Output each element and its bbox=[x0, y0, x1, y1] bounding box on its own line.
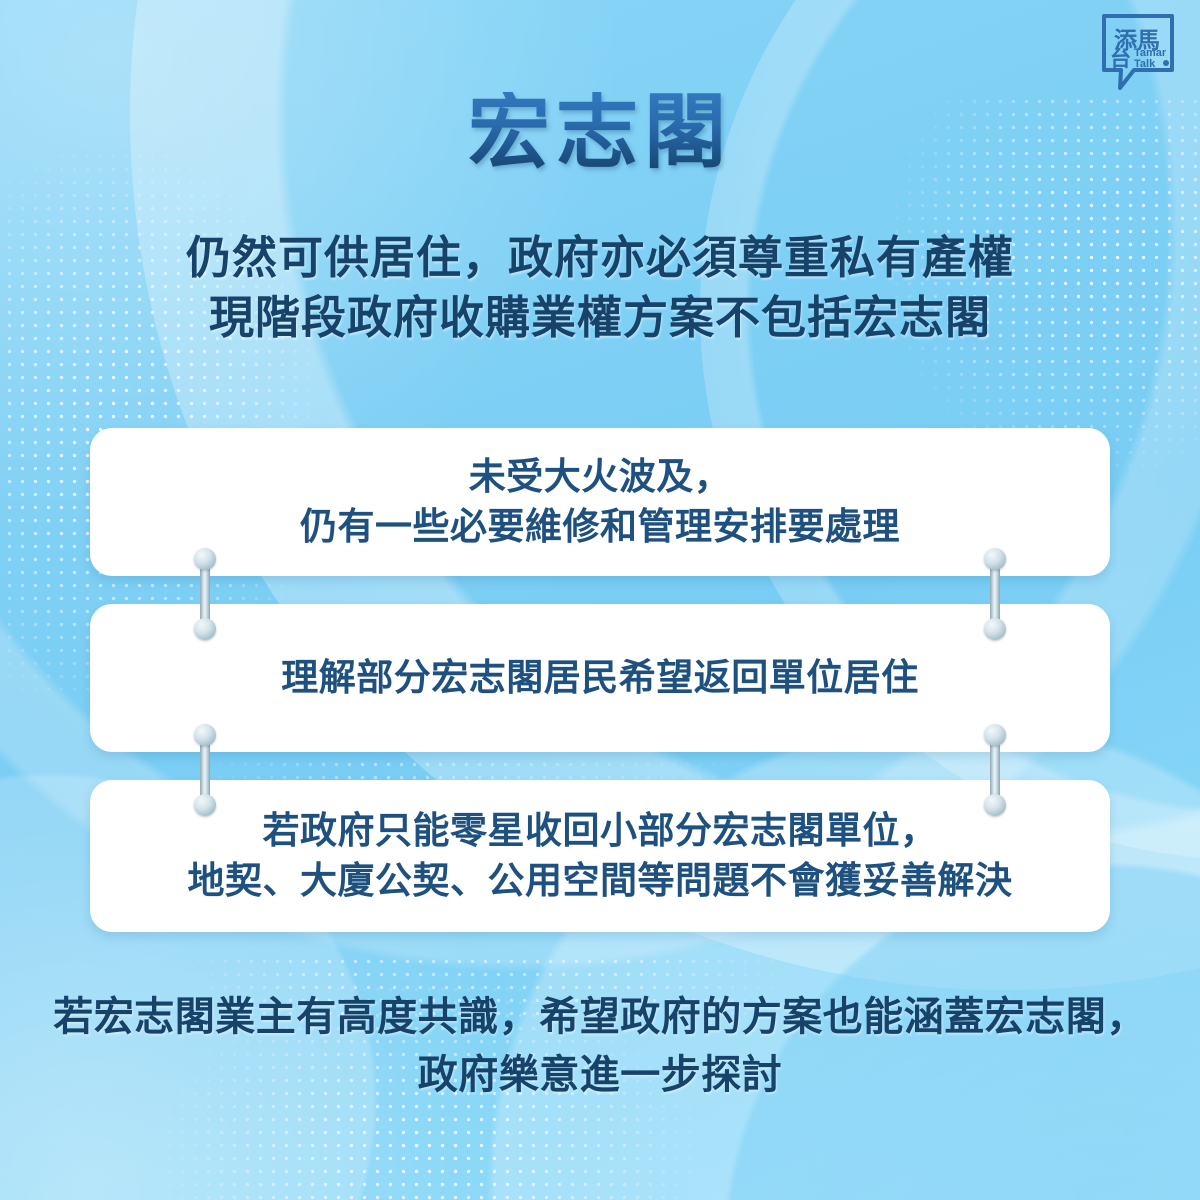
tamar-talk-logo: 添馬 台 Tamar Talk bbox=[1090, 8, 1182, 100]
info-card-1: 未受大火波及， 仍有一些必要維修和管理安排要處理 bbox=[90, 428, 1110, 576]
connector-cap-top bbox=[984, 724, 1006, 746]
footer-line-2: 政府樂意進一步探討 bbox=[0, 1046, 1200, 1104]
footer-block: 若宏志閣業主有高度共識，希望政府的方案也能涵蓋宏志閣， 政府樂意進一步探討 bbox=[0, 988, 1200, 1104]
page-title: 宏志閣 bbox=[0, 92, 1200, 174]
connector-cap-top bbox=[194, 724, 216, 746]
svg-text:台: 台 bbox=[1110, 47, 1131, 71]
connector-cap-bottom bbox=[984, 794, 1006, 816]
connector-pin-left-2 bbox=[194, 724, 216, 816]
connector-cap-bottom bbox=[194, 794, 216, 816]
subtitle-block: 仍然可供居住，政府亦必須尊重私有產權 現階段政府收購業權方案不包括宏志閣 bbox=[0, 228, 1200, 348]
infographic-poster: 添馬 台 Tamar Talk 宏志閣 仍然可供居住，政府亦必須尊重私有產權 現… bbox=[0, 0, 1200, 1200]
info-card-3: 若政府只能零星收回小部分宏志閣單位， 地契、大廈公契、公用空間等問題不會獲妥善解… bbox=[90, 780, 1110, 932]
svg-text:Talk: Talk bbox=[1134, 58, 1156, 70]
connector-cap-top bbox=[984, 548, 1006, 570]
card-2-line-1: 理解部分宏志閣居民希望返回單位居住 bbox=[281, 653, 919, 703]
card-3-line-1: 若政府只能零星收回小部分宏志閣單位， bbox=[263, 806, 938, 856]
connector-cap-bottom bbox=[194, 618, 216, 640]
footer-line-1: 若宏志閣業主有高度共識，希望政府的方案也能涵蓋宏志閣， bbox=[0, 988, 1200, 1046]
subtitle-line-2: 現階段政府收購業權方案不包括宏志閣 bbox=[0, 288, 1200, 348]
card-1-line-2: 仍有一些必要維修和管理安排要處理 bbox=[300, 502, 900, 552]
card-stack: 未受大火波及， 仍有一些必要維修和管理安排要處理 理解部分宏志閣居民希望返回單位… bbox=[90, 428, 1110, 932]
connector-pin-right-1 bbox=[984, 548, 1006, 640]
subtitle-line-1: 仍然可供居住，政府亦必須尊重私有產權 bbox=[0, 228, 1200, 288]
info-card-2: 理解部分宏志閣居民希望返回單位居住 bbox=[90, 604, 1110, 752]
card-3-line-2: 地契、大廈公契、公用空間等問題不會獲妥善解決 bbox=[188, 856, 1013, 906]
connector-pin-right-2 bbox=[984, 724, 1006, 816]
card-1-line-1: 未受大火波及， bbox=[469, 452, 732, 502]
connector-cap-bottom bbox=[984, 618, 1006, 640]
connector-cap-top bbox=[194, 548, 216, 570]
connector-pin-left-1 bbox=[194, 548, 216, 640]
